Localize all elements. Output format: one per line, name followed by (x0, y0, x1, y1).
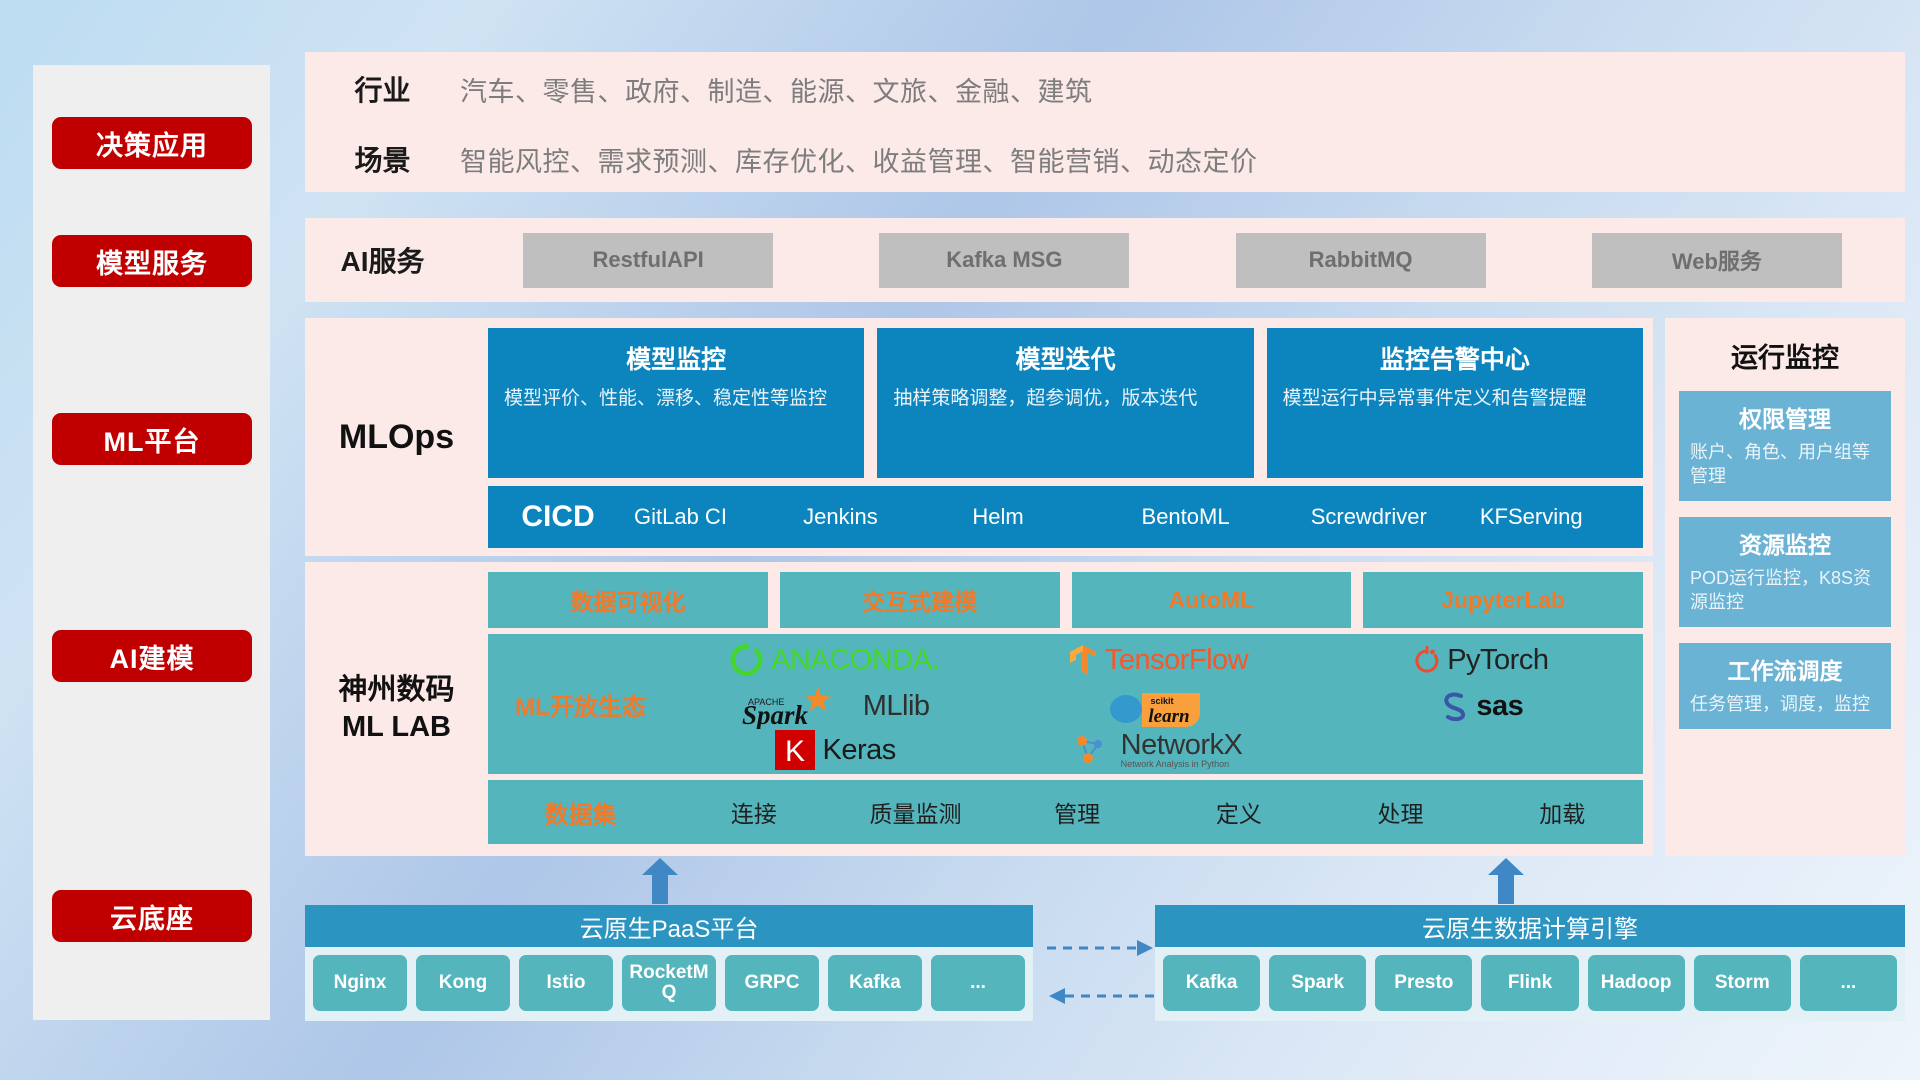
sidebar-item-ml-platform[interactable]: ML平台 (52, 413, 252, 465)
scenario-key: 场景 (305, 139, 460, 179)
cloud-native-paas-chip-list: Nginx Kong Istio RocketMQ GRPC Kafka ... (305, 947, 1033, 1021)
logo-pytorch: PyTorch (1320, 644, 1643, 677)
dataset-item[interactable]: 连接 (673, 795, 835, 829)
dataset-item[interactable]: 管理 (996, 795, 1158, 829)
runtime-monitor-panel: 运行监控 权限管理 账户、角色、用户组等管理 资源监控 POD运行监控，K8S资… (1665, 318, 1905, 856)
ai-service-box-label: RestfulAPI (593, 247, 704, 273)
dataset-item[interactable]: 加载 (1481, 795, 1643, 829)
svg-text:Spark: Spark (742, 700, 809, 729)
stack-layer-sidebar: 决策应用 模型服务 ML平台 AI建模 云底座 (33, 65, 270, 1020)
logo-label: NetworkX (1121, 731, 1243, 760)
sidebar-item-cloud-base[interactable]: 云底座 (52, 890, 252, 942)
ai-service-key: AI服务 (305, 240, 460, 280)
cloud-chip[interactable]: Kafka (1163, 955, 1260, 1011)
cicd-row: CICD GitLab CI Jenkins Helm BentoML Scre… (488, 486, 1643, 548)
dataset-item[interactable]: 定义 (1158, 795, 1320, 829)
sidebar-item-label: ML平台 (104, 420, 201, 459)
runtime-monitor-card-title: 资源监控 (1690, 526, 1880, 560)
ml-lab-key-line1: 神州数码 (338, 672, 454, 709)
svg-text:learn: learn (1148, 706, 1189, 727)
ml-lab-key: 神州数码 ML LAB (305, 562, 488, 856)
logo-anaconda: ANACONDA. (673, 643, 996, 677)
dataset-item-list: 连接 质量监测 管理 定义 处理 加载 (673, 795, 1643, 829)
ai-service-box-label: Kafka MSG (946, 247, 1062, 273)
networkx-tagline: Network Analysis in Python (1121, 760, 1243, 769)
industry-value: 汽车、零售、政府、制造、能源、文旅、金融、建筑 (460, 70, 1093, 109)
cloud-chip[interactable]: Flink (1481, 955, 1578, 1011)
mlops-card-desc: 模型运行中异常事件定义和告警提醒 (1283, 386, 1627, 412)
ml-ecosystem-key: ML开放生态 (488, 687, 673, 722)
cicd-item[interactable]: BentoML (1136, 505, 1305, 528)
logo-sas: sas (1320, 690, 1643, 723)
up-arrow-icon (1486, 858, 1526, 904)
industry-row: 行业 汽车、零售、政府、制造、能源、文旅、金融、建筑 (305, 54, 1905, 124)
ml-lab-tool[interactable]: JupyterLab (1363, 572, 1643, 628)
sas-logo (1439, 690, 1469, 722)
scikit-learn-logo: scikit learn (1106, 684, 1210, 728)
ai-service-band: AI服务 RestfulAPI Kafka MSG RabbitMQ Web服务 (305, 218, 1905, 302)
ml-lab-tool[interactable]: AutoML (1072, 572, 1352, 628)
svg-text:K: K (785, 735, 805, 768)
ai-service-box[interactable]: RabbitMQ (1236, 233, 1486, 288)
runtime-monitor-card[interactable]: 工作流调度 任务管理，调度，监控 (1679, 643, 1891, 729)
cloud-native-paas-block: 云原生PaaS平台 Nginx Kong Istio RocketMQ GRPC… (305, 905, 1033, 1021)
runtime-monitor-title: 运行监控 (1679, 336, 1891, 375)
tensorflow-logo (1068, 643, 1098, 677)
dataset-row: 数据集 连接 质量监测 管理 定义 处理 加载 (488, 780, 1643, 844)
logo-label: MLlib (863, 690, 930, 723)
ml-lab-tool-label: 数据可视化 (570, 583, 685, 617)
sidebar-item-decision-app[interactable]: 决策应用 (52, 117, 252, 169)
spark-logo: APACHE Spark (740, 683, 856, 729)
logo-label: TensorFlow (1105, 644, 1248, 677)
logo-label: ANACONDA. (771, 644, 939, 677)
bidirectional-dashed-connector (1045, 930, 1157, 1028)
cloud-chip[interactable]: RocketMQ (622, 955, 716, 1011)
mlops-card[interactable]: 模型迭代 抽样策略调整，超参调优，版本迭代 (877, 328, 1253, 478)
mlops-band: MLOps 模型监控 模型评价、性能、漂移、稳定性等监控 模型迭代 抽样策略调整… (305, 318, 1653, 556)
logo-label: Keras (823, 734, 896, 767)
runtime-monitor-card-desc: POD运行监控，K8S资源监控 (1690, 567, 1880, 615)
cloud-chip[interactable]: GRPC (725, 955, 819, 1011)
sidebar-item-ai-modeling[interactable]: AI建模 (52, 630, 252, 682)
ml-lab-tool[interactable]: 数据可视化 (488, 572, 768, 628)
networkx-wordmark: NetworkX Network Analysis in Python (1121, 731, 1243, 769)
sidebar-item-label: AI建模 (110, 637, 195, 676)
dataset-item[interactable]: 处理 (1320, 795, 1482, 829)
ai-service-box-label: RabbitMQ (1309, 247, 1413, 273)
mlops-card[interactable]: 模型监控 模型评价、性能、漂移、稳定性等监控 (488, 328, 864, 478)
pytorch-logo (1414, 644, 1440, 676)
scenario-row: 场景 智能风控、需求预测、库存优化、收益管理、智能营销、动态定价 (305, 124, 1905, 194)
sidebar-item-label: 决策应用 (96, 124, 208, 163)
ml-lab-tool-label: AutoML (1169, 587, 1255, 614)
ml-ecosystem-row: ML开放生态 ANACONDA. TensorFlow (488, 634, 1643, 774)
mlops-card-desc: 模型评价、性能、漂移、稳定性等监控 (504, 386, 848, 412)
mlops-card[interactable]: 监控告警中心 模型运行中异常事件定义和告警提醒 (1267, 328, 1643, 478)
runtime-monitor-card-title: 权限管理 (1690, 400, 1880, 434)
ai-service-box[interactable]: Web服务 (1592, 233, 1842, 288)
cicd-item[interactable]: Jenkins (797, 505, 966, 528)
cloud-chip[interactable]: ... (931, 955, 1025, 1011)
logo-networkx: NetworkX Network Analysis in Python (996, 731, 1319, 769)
up-arrow-icon (640, 858, 680, 904)
ml-lab-tool-label: JupyterLab (1441, 587, 1565, 614)
cicd-item[interactable]: Screwdriver (1305, 505, 1474, 528)
logo-label: PyTorch (1447, 644, 1548, 677)
runtime-monitor-card[interactable]: 资源监控 POD运行监控，K8S资源监控 (1679, 517, 1891, 627)
cloud-chip[interactable]: ... (1800, 955, 1897, 1011)
logo-spark-mllib: APACHE Spark MLlib (673, 683, 996, 729)
cloud-chip[interactable]: Istio (519, 955, 613, 1011)
dataset-key: 数据集 (488, 795, 673, 830)
svg-text:scikit: scikit (1150, 696, 1173, 706)
cloud-native-data-engine-chip-list: Kafka Spark Presto Flink Hadoop Storm ..… (1155, 947, 1905, 1021)
industry-key: 行业 (305, 69, 460, 109)
cloud-chip[interactable]: Spark (1269, 955, 1366, 1011)
networkx-logo (1074, 731, 1114, 769)
ml-lab-tool[interactable]: 交互式建模 (780, 572, 1060, 628)
cicd-title: CICD (488, 500, 628, 534)
runtime-monitor-card-title: 工作流调度 (1690, 652, 1880, 686)
dataset-item[interactable]: 质量监测 (835, 795, 997, 829)
cloud-chip[interactable]: Storm (1694, 955, 1791, 1011)
logo-scikit-learn: scikit learn (996, 684, 1319, 728)
cicd-item[interactable]: Helm (966, 505, 1135, 528)
sidebar-item-model-service[interactable]: 模型服务 (52, 235, 252, 287)
ml-ecosystem-logo-grid: ANACONDA. TensorFlow (673, 637, 1643, 771)
ml-lab-tool-label: 交互式建模 (862, 583, 977, 617)
ml-lab-band: 神州数码 ML LAB 数据可视化 交互式建模 AutoML JupyterLa… (305, 562, 1653, 856)
runtime-monitor-card[interactable]: 权限管理 账户、角色、用户组等管理 (1679, 391, 1891, 501)
cloud-chip[interactable]: Kafka (828, 955, 922, 1011)
anaconda-logo (730, 643, 764, 677)
cicd-item-list: GitLab CI Jenkins Helm BentoML Screwdriv… (628, 505, 1643, 528)
scenario-value: 智能风控、需求预测、库存优化、收益管理、智能营销、动态定价 (460, 140, 1258, 179)
cloud-native-data-engine-title: 云原生数据计算引擎 (1155, 905, 1905, 947)
keras-logo: K (774, 729, 816, 771)
sidebar-item-label: 模型服务 (96, 242, 208, 281)
mlops-card-title: 监控告警中心 (1283, 340, 1627, 376)
ai-service-box[interactable]: Kafka MSG (879, 233, 1129, 288)
runtime-monitor-card-desc: 账户、角色、用户组等管理 (1690, 441, 1880, 489)
architecture-main: 行业 汽车、零售、政府、制造、能源、文旅、金融、建筑 场景 智能风控、需求预测、… (305, 0, 1905, 1080)
ai-service-box[interactable]: RestfulAPI (523, 233, 773, 288)
logo-keras: K Keras (673, 729, 996, 771)
sidebar-item-label: 云底座 (110, 897, 194, 936)
logo-label: sas (1476, 690, 1523, 723)
cicd-item[interactable]: GitLab CI (628, 505, 797, 528)
ml-lab-tool-list: 数据可视化 交互式建模 AutoML JupyterLab (488, 572, 1643, 628)
ai-service-box-label: Web服务 (1672, 244, 1762, 276)
mlops-card-title: 模型迭代 (893, 340, 1237, 376)
ai-service-box-list: RestfulAPI Kafka MSG RabbitMQ Web服务 (460, 233, 1905, 288)
cloud-native-data-engine-block: 云原生数据计算引擎 Kafka Spark Presto Flink Hadoo… (1155, 905, 1905, 1021)
mlops-card-desc: 抽样策略调整，超参调优，版本迭代 (893, 386, 1237, 412)
cloud-native-paas-title: 云原生PaaS平台 (305, 905, 1033, 947)
mlops-card-list: 模型监控 模型评价、性能、漂移、稳定性等监控 模型迭代 抽样策略调整，超参调优，… (488, 328, 1643, 478)
cicd-item[interactable]: KFServing (1474, 505, 1643, 528)
cloud-chip[interactable]: Presto (1375, 955, 1472, 1011)
runtime-monitor-card-desc: 任务管理，调度，监控 (1690, 693, 1880, 717)
mlops-key: MLOps (305, 318, 488, 556)
logo-tensorflow: TensorFlow (996, 643, 1319, 677)
decision-application-band: 行业 汽车、零售、政府、制造、能源、文旅、金融、建筑 场景 智能风控、需求预测、… (305, 52, 1905, 192)
cloud-chip[interactable]: Kong (416, 955, 510, 1011)
cloud-chip[interactable]: Hadoop (1588, 955, 1685, 1011)
mlops-card-title: 模型监控 (504, 340, 848, 376)
cloud-chip[interactable]: Nginx (313, 955, 407, 1011)
ml-lab-key-line2: ML LAB (342, 709, 451, 746)
